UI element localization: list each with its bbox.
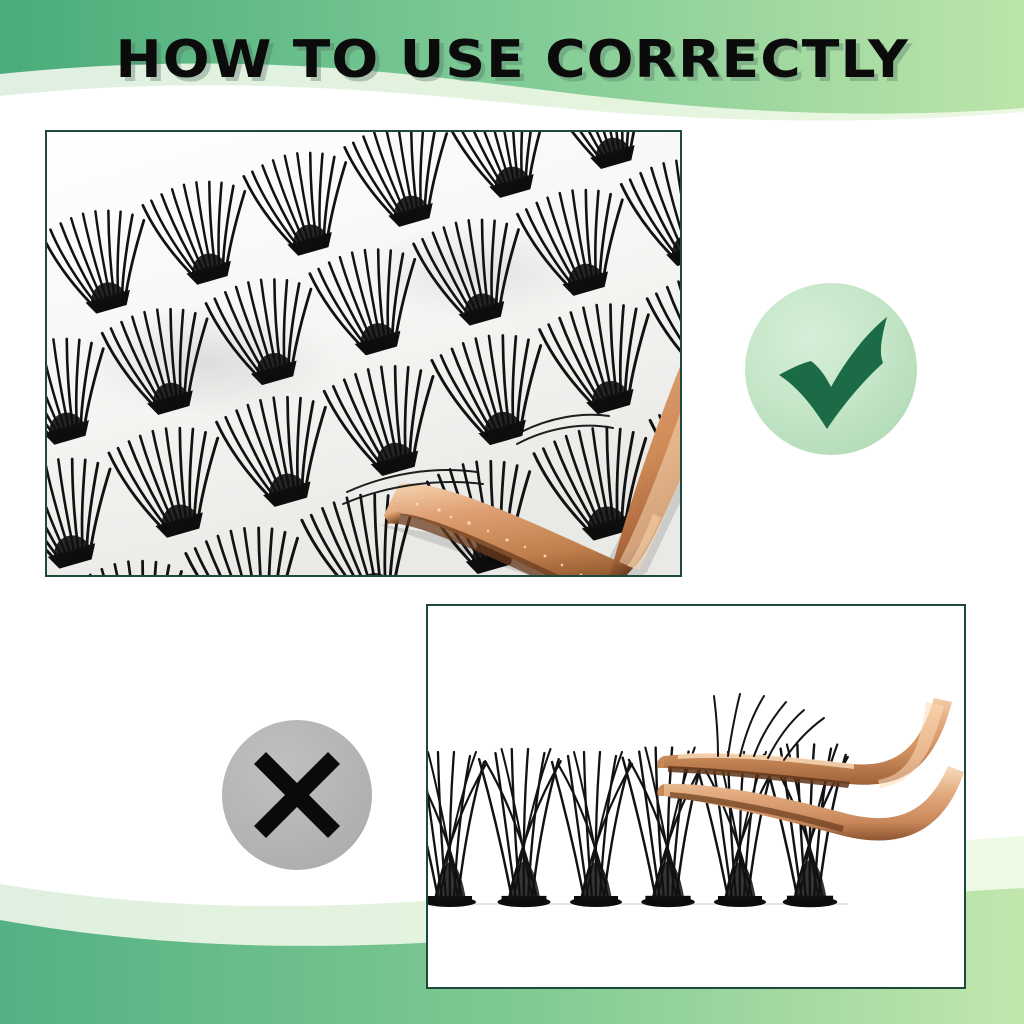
incorrect-usage-photo [426, 604, 966, 989]
page-title: HOW TO USE CORRECTLY [115, 30, 908, 90]
incorrect-usage-scene [428, 606, 964, 987]
cross-icon [222, 720, 372, 870]
badge-correct [745, 283, 917, 455]
page-title-wrap: HOW TO USE CORRECTLY [0, 30, 1024, 90]
correct-usage-photo [45, 130, 682, 577]
badge-wrong [222, 720, 372, 870]
check-icon [745, 283, 917, 455]
correct-usage-scene [47, 132, 680, 575]
infographic-canvas: HOW TO USE CORRECTLY [0, 0, 1024, 1024]
